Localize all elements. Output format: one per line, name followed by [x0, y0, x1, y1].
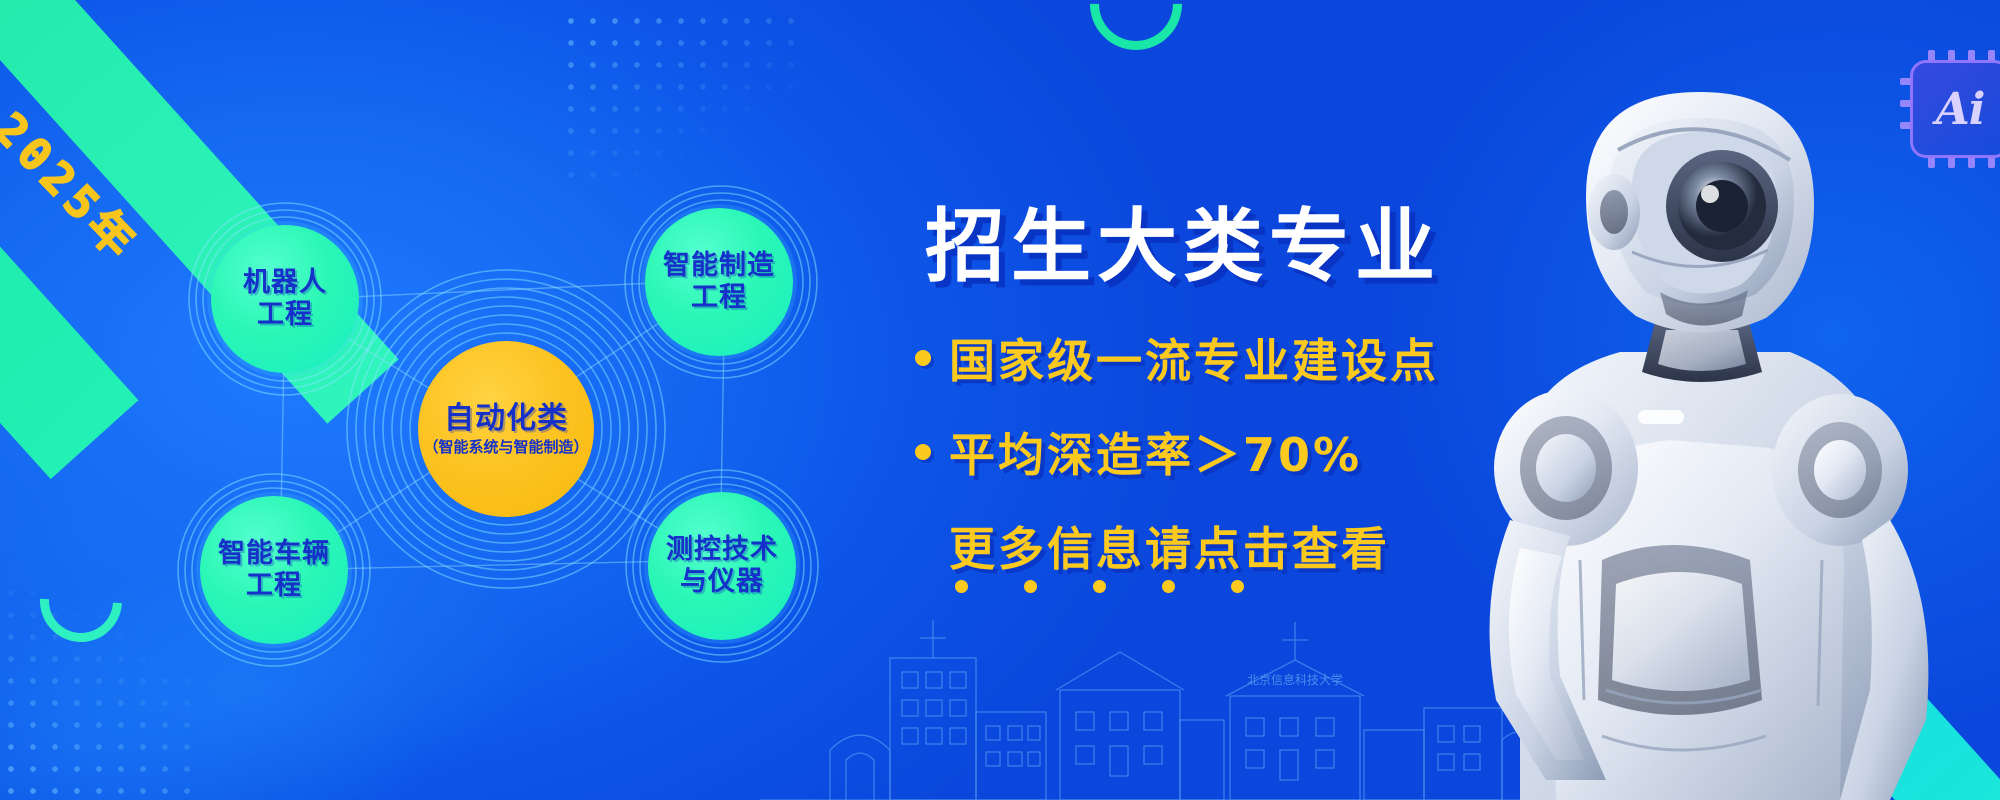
arc-decor-top: [1071, 0, 1201, 69]
carousel-dot[interactable]: [1024, 580, 1037, 593]
bullet-dot-icon: [915, 444, 931, 460]
carousel-dots[interactable]: [955, 580, 1244, 593]
node-intelligent-vehicle[interactable]: 智能车辆 工程: [200, 496, 348, 644]
svg-text:北京信息科技大学: 北京信息科技大学: [1247, 672, 1343, 687]
node-label-line1: 智能车辆: [218, 538, 330, 570]
admissions-banner: 2025年 Ai: [0, 0, 2000, 800]
arc-decor-left: [23, 543, 139, 659]
node-intelligent-manufacturing[interactable]: 智能制造 工程: [645, 208, 793, 356]
page-title: 招生大类专业: [925, 182, 1441, 298]
node-label-sub: （智能系统与智能制造）: [423, 439, 588, 457]
list-item: 国家级一流专业建设点: [915, 325, 1439, 391]
node-label-line1: 自动化类: [444, 401, 568, 436]
node-automation-category[interactable]: 自动化类 （智能系统与智能制造）: [418, 341, 594, 517]
node-label-line2: 工程: [691, 282, 747, 314]
node-label-line2: 工程: [257, 299, 313, 331]
node-label-line1: 机器人: [243, 267, 327, 299]
carousel-dot[interactable]: [1162, 580, 1175, 593]
list-item-cta[interactable]: 更多信息请点击查看: [915, 513, 1439, 579]
node-robot-engineering[interactable]: 机器人 工程: [211, 225, 359, 373]
bullet-dot-icon: [915, 350, 931, 366]
carousel-dot[interactable]: [1231, 580, 1244, 593]
list-item-label: 国家级一流专业建设点: [949, 325, 1439, 391]
node-label-line2: 工程: [246, 570, 302, 602]
list-item: 平均深造率＞70%: [915, 419, 1439, 485]
highlight-list: 国家级一流专业建设点 平均深造率＞70% 更多信息请点击查看: [915, 325, 1439, 607]
carousel-dot[interactable]: [1093, 580, 1106, 593]
year-badge: 2025年: [0, 96, 156, 274]
node-label-line1: 测控技术: [666, 534, 778, 566]
node-label-line1: 智能制造: [663, 250, 775, 282]
node-label-line2: 与仪器: [680, 566, 764, 598]
list-item-label: 更多信息请点击查看: [949, 513, 1390, 579]
robot-illustration: [1370, 0, 2000, 800]
carousel-dot[interactable]: [955, 580, 968, 593]
list-item-label: 平均深造率＞70%: [949, 419, 1362, 485]
